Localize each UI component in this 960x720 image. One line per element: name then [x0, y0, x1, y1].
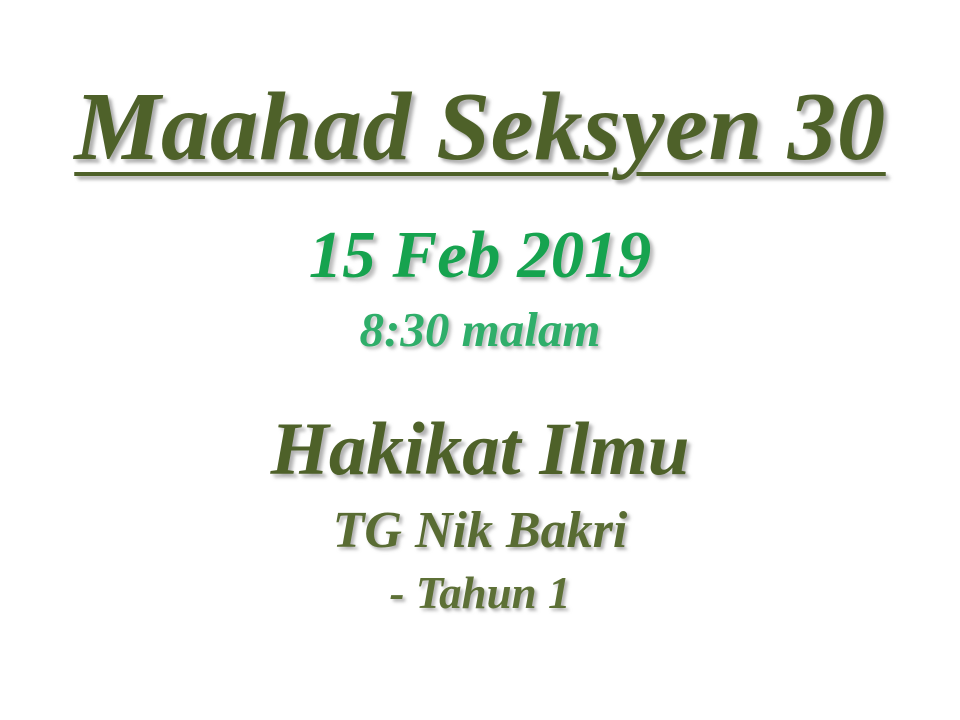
announcement-slide: Maahad Seksyen 30 15 Feb 2019 8:30 malam… [0, 0, 960, 720]
session-topic: Hakikat Ilmu [0, 412, 960, 487]
event-time: 8:30 malam [0, 305, 960, 354]
session-series: - Tahun 1 [0, 571, 960, 616]
session-speaker: TG Nik Bakri [0, 505, 960, 557]
event-date: 15 Feb 2019 [0, 222, 960, 289]
organization-title: Maahad Seksyen 30 [0, 78, 960, 175]
